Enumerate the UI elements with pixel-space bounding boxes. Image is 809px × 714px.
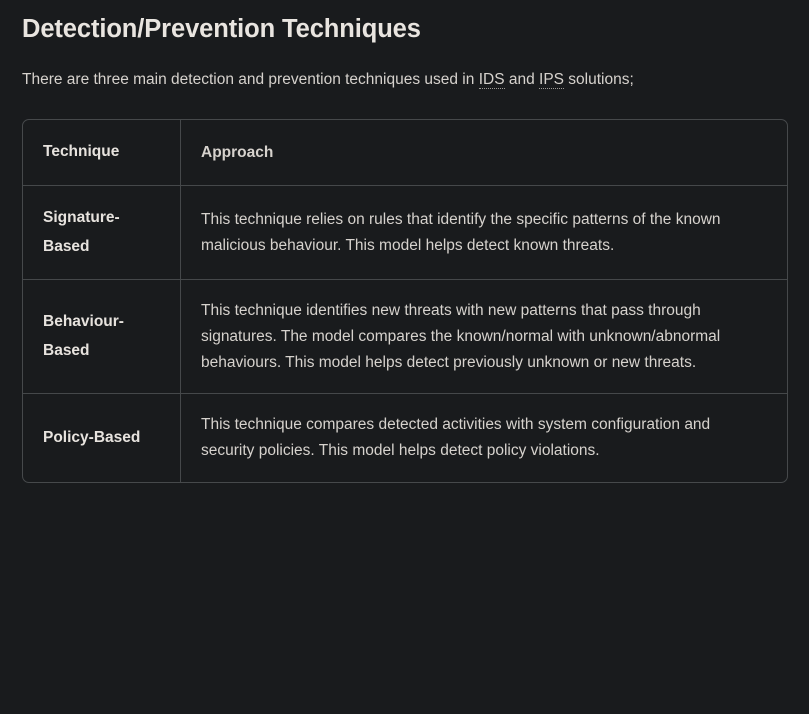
cell-technique-name: Behaviour-Based bbox=[23, 280, 181, 394]
table-header: Technique Approach bbox=[23, 120, 787, 186]
page-content: Detection/Prevention Techniques There ar… bbox=[0, 0, 809, 483]
techniques-table-wrapper: Technique Approach Signature-Based This … bbox=[22, 119, 788, 483]
techniques-table: Technique Approach Signature-Based This … bbox=[22, 119, 788, 483]
table-body: Signature-Based This technique relies on… bbox=[23, 186, 787, 482]
cell-technique-approach: This technique compares detected activit… bbox=[181, 394, 787, 481]
cell-technique-name: Policy-Based bbox=[23, 394, 181, 481]
intro-paragraph: There are three main detection and preve… bbox=[22, 67, 722, 94]
intro-text-part-3: solutions; bbox=[564, 71, 634, 88]
table-row: Signature-Based This technique relies on… bbox=[23, 186, 787, 280]
column-header-approach: Approach bbox=[181, 120, 787, 186]
table-header-row: Technique Approach bbox=[23, 120, 787, 186]
column-header-technique: Technique bbox=[23, 120, 181, 186]
intro-text-part-2: and bbox=[505, 71, 539, 88]
abbr-ids[interactable]: IDS bbox=[479, 71, 505, 89]
cell-technique-approach: This technique identifies new threats wi… bbox=[181, 280, 787, 394]
abbr-ips[interactable]: IPS bbox=[539, 71, 564, 89]
intro-text-part-1: There are three main detection and preve… bbox=[22, 71, 479, 88]
table-row: Behaviour-Based This technique identifie… bbox=[23, 280, 787, 394]
page-title: Detection/Prevention Techniques bbox=[22, 14, 787, 45]
cell-technique-approach: This technique relies on rules that iden… bbox=[181, 186, 787, 280]
table-row: Policy-Based This technique compares det… bbox=[23, 394, 787, 481]
cell-technique-name: Signature-Based bbox=[23, 186, 181, 280]
